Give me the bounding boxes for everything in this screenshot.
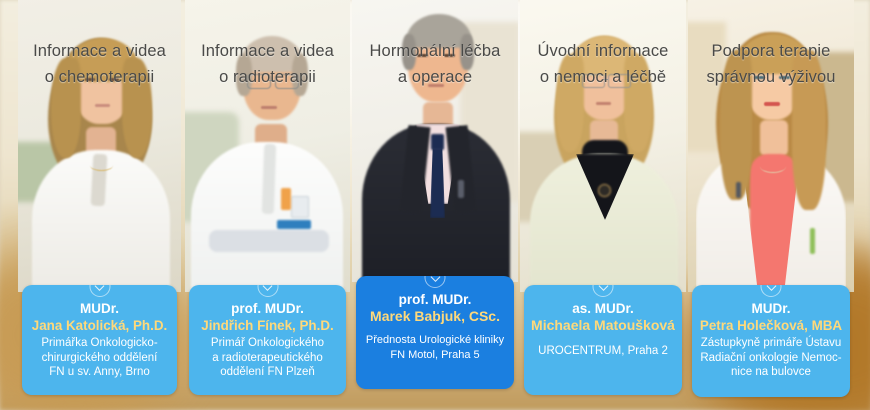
- card-degree: MUDr.: [22, 301, 177, 317]
- chevron-down-circle-icon: [89, 285, 110, 297]
- header-col-2: Informace a videa o radioterapii: [189, 38, 346, 90]
- card-col-1[interactable]: MUDr. Jana Katolická, Ph.D. Primářka Onk…: [22, 285, 177, 395]
- chevron-down-circle-icon: [257, 285, 278, 297]
- header-col-3: Hormonální léčba a operace: [356, 38, 514, 90]
- chevron-down-circle-icon: [593, 285, 614, 297]
- header-col-5: Podpora terapie správnou výživou: [692, 38, 850, 90]
- card-col-3[interactable]: prof. MUDr. Marek Babjuk, CSc. Přednosta…: [356, 276, 514, 389]
- card-role: Přednosta Urologické kliniky FN Motol, P…: [356, 333, 514, 362]
- header-col-4: Úvodní informace o nemoci a léčbě: [524, 38, 682, 90]
- card-degree: prof. MUDr.: [189, 301, 346, 317]
- card-name: Jana Katolická, Ph.D.: [22, 317, 177, 334]
- card-name: Marek Babjuk, CSc.: [356, 308, 514, 325]
- card-name: Michaela Matoušková: [524, 317, 682, 334]
- card-degree: prof. MUDr.: [356, 292, 514, 308]
- card-role: Primář Onkologického a radioterapeutické…: [189, 336, 346, 380]
- chevron-down-circle-icon: [425, 276, 446, 288]
- card-role: Primářka Onkologicko- chirurgického oddě…: [22, 336, 177, 380]
- card-degree: MUDr.: [692, 301, 850, 317]
- header-col-1: Informace a videa o chemoterapii: [22, 38, 177, 90]
- card-name: Petra Holečková, MBA: [692, 317, 850, 334]
- card-col-4[interactable]: as. MUDr. Michaela Matoušková UROCENTRUM…: [524, 285, 682, 395]
- card-role: UROCENTRUM, Praha 2: [524, 344, 682, 359]
- card-col-5[interactable]: MUDr. Petra Holečková, MBA Zástupkyně pr…: [692, 285, 850, 397]
- card-col-2[interactable]: prof. MUDr. Jindřich Fínek, Ph.D. Primář…: [189, 285, 346, 395]
- chevron-down-circle-icon: [761, 285, 782, 297]
- card-name: Jindřich Fínek, Ph.D.: [189, 317, 346, 334]
- card-degree: as. MUDr.: [524, 301, 682, 317]
- card-role: Zástupkyně primáře Ústavu Radiační onkol…: [692, 336, 850, 380]
